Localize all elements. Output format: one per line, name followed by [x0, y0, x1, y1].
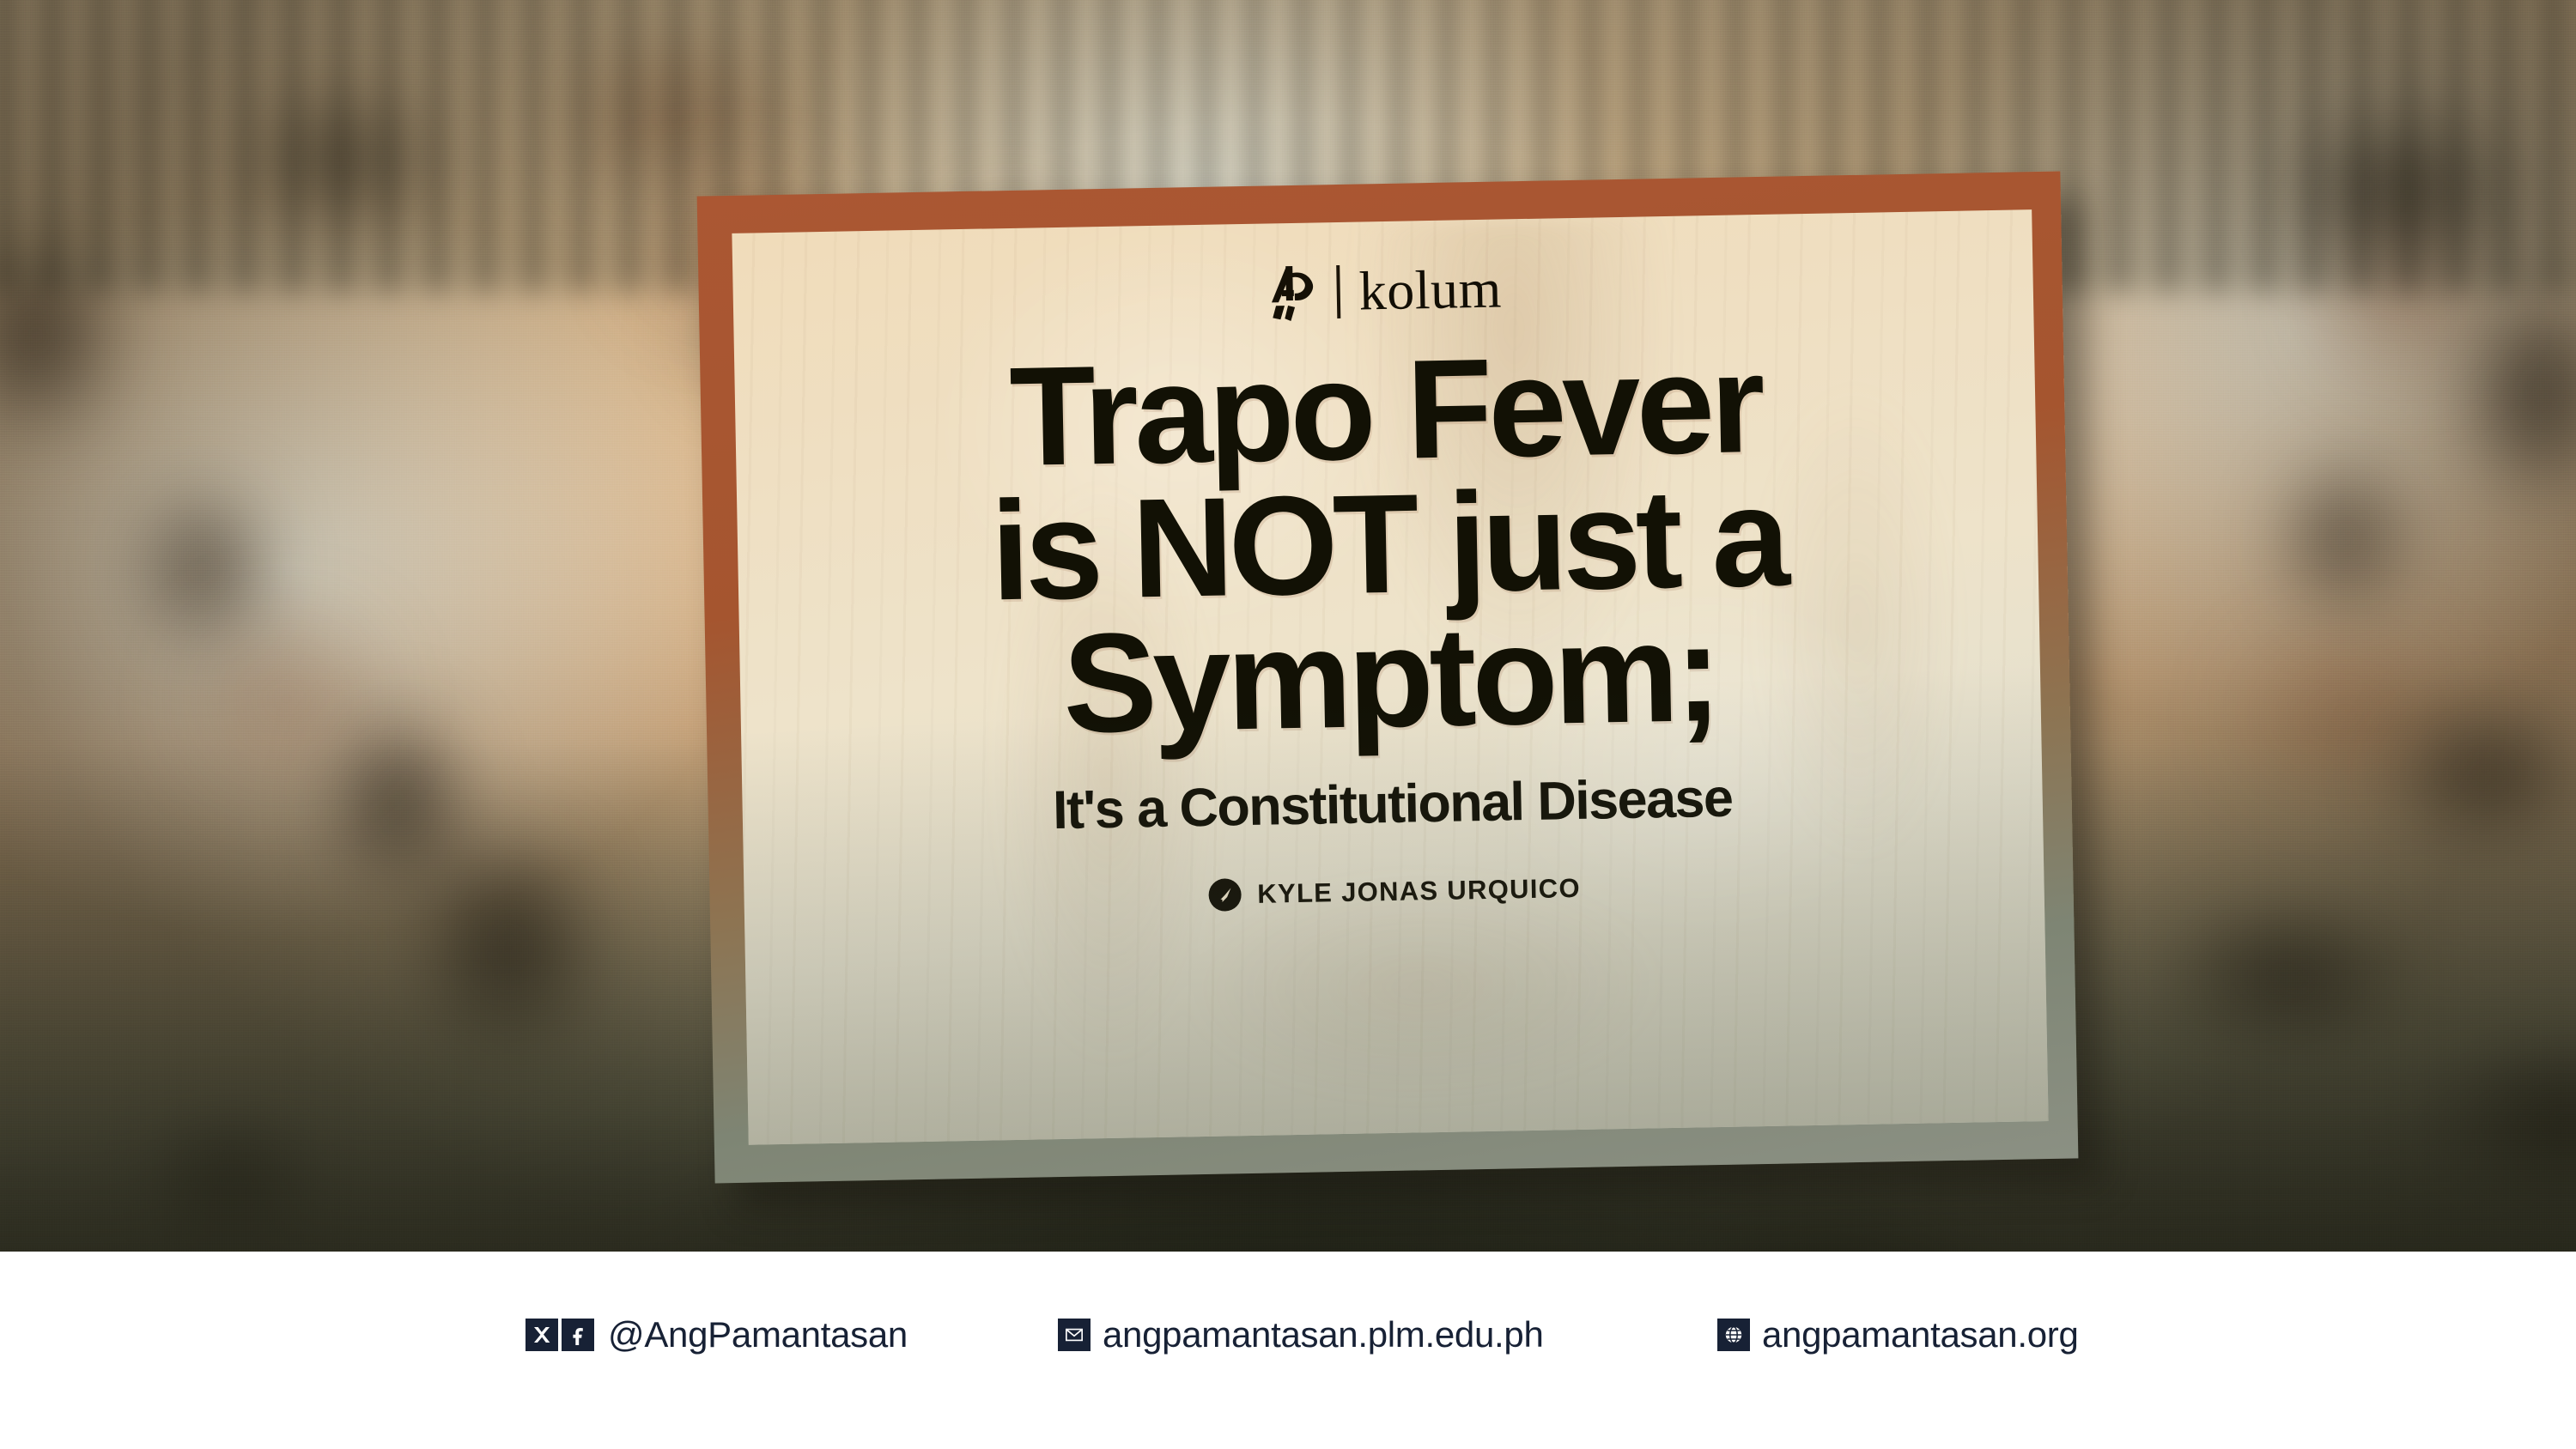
footer-website[interactable]: angpamantasan.org	[1717, 1317, 2079, 1353]
footer-bar: @AngPamantasan angpamantasan.plm.edu.ph	[0, 1252, 2576, 1449]
headline-line-3: Symptom;	[774, 599, 2008, 755]
poster-graphic-canvas: kolum Trapo Fever is NOT just a Symptom;…	[0, 0, 2576, 1449]
byline-author: KYLE JONAS URQUICO	[1257, 873, 1581, 910]
email-label: angpamantasan.plm.edu.ph	[1103, 1317, 1544, 1353]
social-handle-label: @AngPamantasan	[608, 1317, 908, 1353]
facebook-icon[interactable]	[562, 1319, 594, 1351]
x-twitter-icon[interactable]	[526, 1319, 558, 1351]
poster-card: kolum Trapo Fever is NOT just a Symptom;…	[697, 172, 2079, 1184]
website-label: angpamantasan.org	[1762, 1317, 2079, 1353]
poster-content: kolum Trapo Fever is NOT just a Symptom;…	[732, 209, 2048, 1145]
footer-social-handle[interactable]: @AngPamantasan	[526, 1317, 908, 1353]
masthead: kolum	[1264, 258, 1502, 323]
subheadline: It's a Constitutional Disease	[1052, 767, 1732, 841]
ang-pamantasan-mark-icon	[1264, 262, 1318, 323]
social-icon-group	[526, 1319, 594, 1351]
globe-icon	[1717, 1319, 1750, 1351]
headline: Trapo Fever is NOT just a Symptom;	[769, 332, 2007, 756]
vertical-rule-divider	[1336, 265, 1340, 318]
footer-email[interactable]: angpamantasan.plm.edu.ph	[1058, 1317, 1544, 1353]
pen-nib-circle-icon	[1207, 878, 1242, 913]
poster-paper-surface: kolum Trapo Fever is NOT just a Symptom;…	[732, 209, 2048, 1145]
section-label: kolum	[1358, 264, 1502, 317]
envelope-icon	[1058, 1319, 1091, 1351]
byline: KYLE JONAS URQUICO	[1207, 871, 1581, 912]
